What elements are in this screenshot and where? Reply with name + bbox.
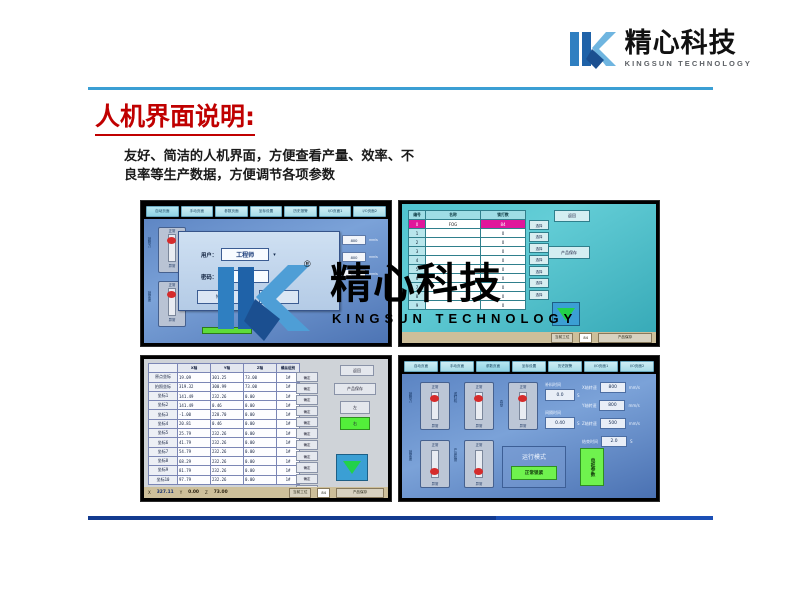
value-interval-time[interactable]: 0.40 — [545, 417, 575, 429]
table-row[interactable]: 8 0 — [409, 292, 526, 301]
select-button-column: 选择 选择 选择 选择 选择 选择 选择 — [529, 220, 549, 301]
value-x-speed[interactable]: 800 — [600, 382, 626, 393]
col-y: Y轴 — [211, 364, 244, 373]
slider-label-feeder: 送钉机 — [453, 392, 458, 402]
tab-io2[interactable]: I/O页面2 — [353, 206, 386, 217]
speed-unit-z: mm/s — [369, 272, 378, 276]
label-y-speed: Y轴转速 — [582, 403, 596, 409]
hmi-screenshot-coordinates: X轴 Y轴 Z轴 螺丝组别 原点坐标 19.09 301.25 73.00 1#… — [140, 355, 392, 502]
x-label: X — [148, 490, 151, 495]
value-end-time[interactable]: 2.0 — [601, 436, 627, 447]
table-row[interactable]: 5 0 — [409, 265, 526, 274]
col-x: X轴 — [178, 364, 211, 373]
table-row[interactable]: 0 FOG 84 — [409, 220, 526, 229]
confirm-button-column: 确定 确定 确定 确定 确定 确定 确定 确定 确定 确定 确定 确定 — [296, 372, 318, 498]
unit-y-speed: mm/s — [628, 403, 639, 408]
right-button[interactable]: 右 — [340, 417, 370, 430]
confirm-button[interactable]: 确定 — [296, 395, 318, 405]
confirm-button[interactable]: 确定 — [296, 440, 318, 450]
status-bar: 当前工位 84 产品保存 — [402, 332, 656, 343]
logo-text-en: KINGSUN TECHNOLOGY — [625, 60, 752, 68]
table-header-row: 编号 名称 锁打数 — [409, 211, 526, 220]
dialog-confirm-button[interactable] — [259, 290, 299, 304]
table-row[interactable]: 坐标6 41.79 232.26 0.00 1# — [149, 438, 300, 447]
time-param-refill: 补料时间 0.0 S — [545, 382, 580, 401]
unit-interval-time: S — [577, 421, 580, 426]
speed-param-z: Z轴转速 500 mm/s — [582, 418, 640, 429]
table-row[interactable]: 7 0 — [409, 283, 526, 292]
run-mode-value-button[interactable]: 正常锁紧 — [511, 466, 557, 480]
table-row[interactable]: 3 0 — [409, 247, 526, 256]
col-z: Z轴 — [244, 364, 277, 373]
table-row[interactable]: 1 0 — [409, 229, 526, 238]
triangle-down-icon — [343, 461, 361, 474]
speed-unit-x: mm/s — [369, 238, 378, 242]
confirm-button[interactable]: 确定 — [296, 383, 318, 393]
tab-manual[interactable]: 手动页面 — [440, 361, 474, 372]
confirm-button[interactable]: 确定 — [296, 474, 318, 484]
driver-param-button[interactable]: 电批参数 — [580, 448, 604, 486]
back-button[interactable]: 返回 — [340, 365, 374, 376]
table-row[interactable]: 4 0 — [409, 256, 526, 265]
label-refill-time: 补料时间 — [545, 382, 580, 388]
table-row[interactable]: 拍照坐标 319.32 300.99 73.00 1# — [149, 382, 300, 391]
table-row[interactable]: 坐标3 -1.00 228.70 0.00 1# — [149, 410, 300, 419]
label-interval-time: 间隔时间 — [545, 410, 580, 416]
unit-x-speed: mm/s — [629, 385, 640, 390]
confirm-button[interactable]: 确定 — [296, 417, 318, 427]
col-count: 锁打数 — [481, 211, 526, 220]
kingsun-k-logo-icon — [566, 26, 618, 72]
confirm-button[interactable]: 确定 — [296, 462, 318, 472]
speed-value-x[interactable]: 800 — [342, 235, 366, 245]
select-button[interactable]: 选择 — [529, 232, 549, 242]
tab-coord[interactable]: 坐标设置 — [250, 206, 283, 217]
unit-refill-time: S — [577, 393, 580, 398]
confirm-button[interactable]: 确定 — [296, 428, 318, 438]
value-y-speed[interactable]: 800 — [599, 400, 625, 411]
status-save-button[interactable]: 产品保存 — [336, 488, 384, 498]
bottom-divider-accent — [496, 516, 713, 520]
station-label: 当前工位 — [551, 333, 573, 343]
tab-alarm[interactable]: 历史报警 — [548, 361, 582, 372]
table-row[interactable]: 2 0 — [409, 238, 526, 247]
run-mode-panel: 运行模式 正常锁紧 — [502, 446, 566, 488]
slider-label-tightness: 锁紧度 — [408, 450, 413, 460]
tab-io2[interactable]: I/O页面2 — [620, 361, 654, 372]
slider-vacuum[interactable]: 正常 异常 — [508, 382, 538, 430]
select-button[interactable]: 选择 — [529, 266, 549, 276]
chevron-down-icon[interactable]: ▾ — [273, 252, 276, 258]
tab-coord[interactable]: 坐标设置 — [512, 361, 546, 372]
value-z-speed[interactable]: 500 — [600, 418, 626, 429]
hmi-screenshot-product-list: 编号 名称 锁打数 0 FOG 84 1 0 2 — [398, 200, 660, 347]
y-label: Y — [180, 490, 182, 495]
tab-param[interactable]: 参数页面 — [476, 361, 510, 372]
label-x-speed: X轴转速 — [582, 385, 597, 391]
body-text: 友好、简洁的人机界面，方便查看产量、效率、不良率等生产数据，方便调节各项参数 — [124, 147, 424, 185]
product-table: 编号 名称 锁打数 0 FOG 84 1 0 2 — [408, 210, 526, 310]
select-button[interactable]: 选择 — [529, 255, 549, 265]
tab-io1[interactable]: I/O页面1 — [584, 361, 618, 372]
col-name: 名称 — [426, 211, 481, 220]
label-z-speed: Z轴转速 — [582, 421, 597, 427]
table-row[interactable]: 坐标1 141.49 232.26 0.00 1# — [149, 391, 300, 400]
station-value[interactable]: 84 — [579, 333, 592, 343]
table-row[interactable]: 坐标2 141.49 0.46 0.00 1# — [149, 401, 300, 410]
status-save-button[interactable]: 产品保存 — [598, 333, 652, 343]
slider-product-detect[interactable]: 正常 异常 — [464, 440, 494, 488]
run-mode-label: 运行模式 — [503, 452, 565, 461]
save-product-button[interactable]: 产品保存 — [334, 383, 376, 395]
slider-label-lock-force: 锁附力 — [408, 392, 413, 402]
user-label: 用户： — [201, 251, 217, 259]
presentation-slide: 精心科技 KINGSUN TECHNOLOGY 人机界面说明: 友好、简洁的人机… — [0, 0, 800, 601]
user-select[interactable]: 工程师 — [221, 248, 269, 261]
slider-label-product-detect: 产品检测 — [453, 448, 458, 462]
select-button[interactable]: 选择 — [529, 243, 549, 253]
slider-tightness[interactable]: 正常 异常 — [420, 440, 450, 488]
speed-param-end: 结束时间 2.0 S — [582, 436, 633, 447]
col-id: 编号 — [409, 211, 426, 220]
coordinate-table: X轴 Y轴 Z轴 螺丝组别 原点坐标 19.09 301.25 73.00 1#… — [148, 363, 300, 485]
slider-feeder[interactable]: 正常 异常 — [464, 382, 494, 430]
speed-unit-y: mm/s — [369, 255, 378, 259]
z-label: Z — [205, 490, 208, 495]
hmi-screenshot-parameters: 自动页面 手动页面 参数页面 坐标设置 历史报警 I/O页面1 I/O页面2 正… — [398, 355, 660, 502]
time-param-interval: 间隔时间 0.40 S — [545, 410, 580, 429]
hmi-screenshot-login: 自动页面 手动页面 参数页面 坐标设置 历史报警 I/O页面1 I/O页面2 正… — [140, 200, 392, 347]
speed-value-y[interactable]: 800 — [342, 252, 366, 262]
left-button[interactable]: 左 — [340, 401, 370, 414]
table-row[interactable]: 6 0 — [409, 274, 526, 283]
z-value: 73.00 — [214, 490, 228, 495]
select-button[interactable]: 选择 — [529, 278, 549, 288]
table-row[interactable]: 坐标9 81.79 232.26 0.00 1# — [149, 466, 300, 475]
y-value: 0.00 — [188, 490, 199, 495]
table-row[interactable]: 坐标7 54.79 232.26 0.00 1# — [149, 447, 300, 456]
slider-label-vacuum: 真空 — [499, 400, 504, 407]
confirm-button[interactable]: 确定 — [296, 372, 318, 382]
top-divider — [88, 87, 713, 90]
unit-z-speed: mm/s — [629, 421, 640, 426]
value-refill-time[interactable]: 0.0 — [545, 389, 575, 401]
confirm-button[interactable]: 确定 — [296, 406, 318, 416]
x-value: 327.11 — [157, 490, 174, 495]
station-value[interactable]: 84 — [317, 488, 330, 498]
slider-label-tightness: 锁紧度 — [147, 291, 152, 301]
page-title: 人机界面说明: — [95, 103, 255, 136]
tab-param[interactable]: 参数页面 — [215, 206, 248, 217]
confirm-button[interactable]: 确定 — [296, 451, 318, 461]
label-end-time: 结束时间 — [582, 439, 598, 445]
table-row[interactable]: 坐标4 20.81 0.46 0.00 1# — [149, 419, 300, 428]
select-button[interactable]: 选择 — [529, 220, 549, 230]
change-password-button[interactable]: 修改密码 — [197, 290, 253, 304]
tab-auto[interactable]: 自动页面 — [404, 361, 438, 372]
table-row[interactable]: 原点坐标 19.09 301.25 73.00 1# — [149, 373, 300, 382]
logo-text-cn: 精心科技 — [625, 30, 737, 57]
password-input[interactable] — [221, 270, 269, 283]
back-button[interactable]: 返回 — [554, 210, 590, 222]
slider-label-lock-force: 锁附力 — [147, 237, 152, 247]
scroll-down-button[interactable] — [552, 302, 580, 326]
unit-end-time: S — [630, 439, 633, 444]
login-dialog: 用户： 工程师 ▾ 密码： 修改密码 — [178, 231, 340, 311]
speed-param-y: Y轴转速 800 mm/s — [582, 400, 640, 411]
table-row[interactable]: 坐标5 25.79 232.26 0.00 1# — [149, 429, 300, 438]
company-logo: 精心科技 KINGSUN TECHNOLOGY — [566, 26, 752, 72]
tab-auto[interactable]: 自动页面 — [146, 206, 179, 217]
slider-lock-force[interactable]: 正常 异常 — [420, 382, 450, 430]
speed-param-x: X轴转速 800 mm/s — [582, 382, 640, 393]
tabbar-br: 自动页面 手动页面 参数页面 坐标设置 历史报警 I/O页面1 I/O页面2 — [402, 359, 656, 372]
tabbar-tl: 自动页面 手动页面 参数页面 坐标设置 历史报警 I/O页面1 I/O页面2 — [144, 204, 388, 217]
tab-io1[interactable]: I/O页面1 — [319, 206, 352, 217]
table-row[interactable]: 坐标8 68.29 232.26 0.00 1# — [149, 456, 300, 465]
select-button[interactable]: 选择 — [529, 290, 549, 300]
station-label: 当前工位 — [289, 488, 311, 498]
table-header-row: X轴 Y轴 Z轴 螺丝组别 — [149, 364, 300, 373]
speed-value-z[interactable]: 500 — [342, 269, 366, 279]
scroll-down-button[interactable] — [336, 454, 368, 481]
triangle-down-icon — [557, 308, 575, 321]
table-row[interactable]: 9 0 — [409, 301, 526, 310]
password-label: 密码： — [201, 273, 217, 281]
tab-manual[interactable]: 手动页面 — [181, 206, 214, 217]
tab-alarm[interactable]: 历史报警 — [284, 206, 317, 217]
save-product-button[interactable]: 产品保存 — [548, 246, 590, 259]
table-row[interactable]: 坐标10 97.79 232.26 0.00 1# — [149, 475, 300, 484]
status-bar: X 327.11 Y 0.00 Z 73.00 当前工位 84 产品保存 — [144, 487, 388, 498]
col-blank — [149, 364, 178, 373]
progress-bar — [202, 327, 252, 334]
